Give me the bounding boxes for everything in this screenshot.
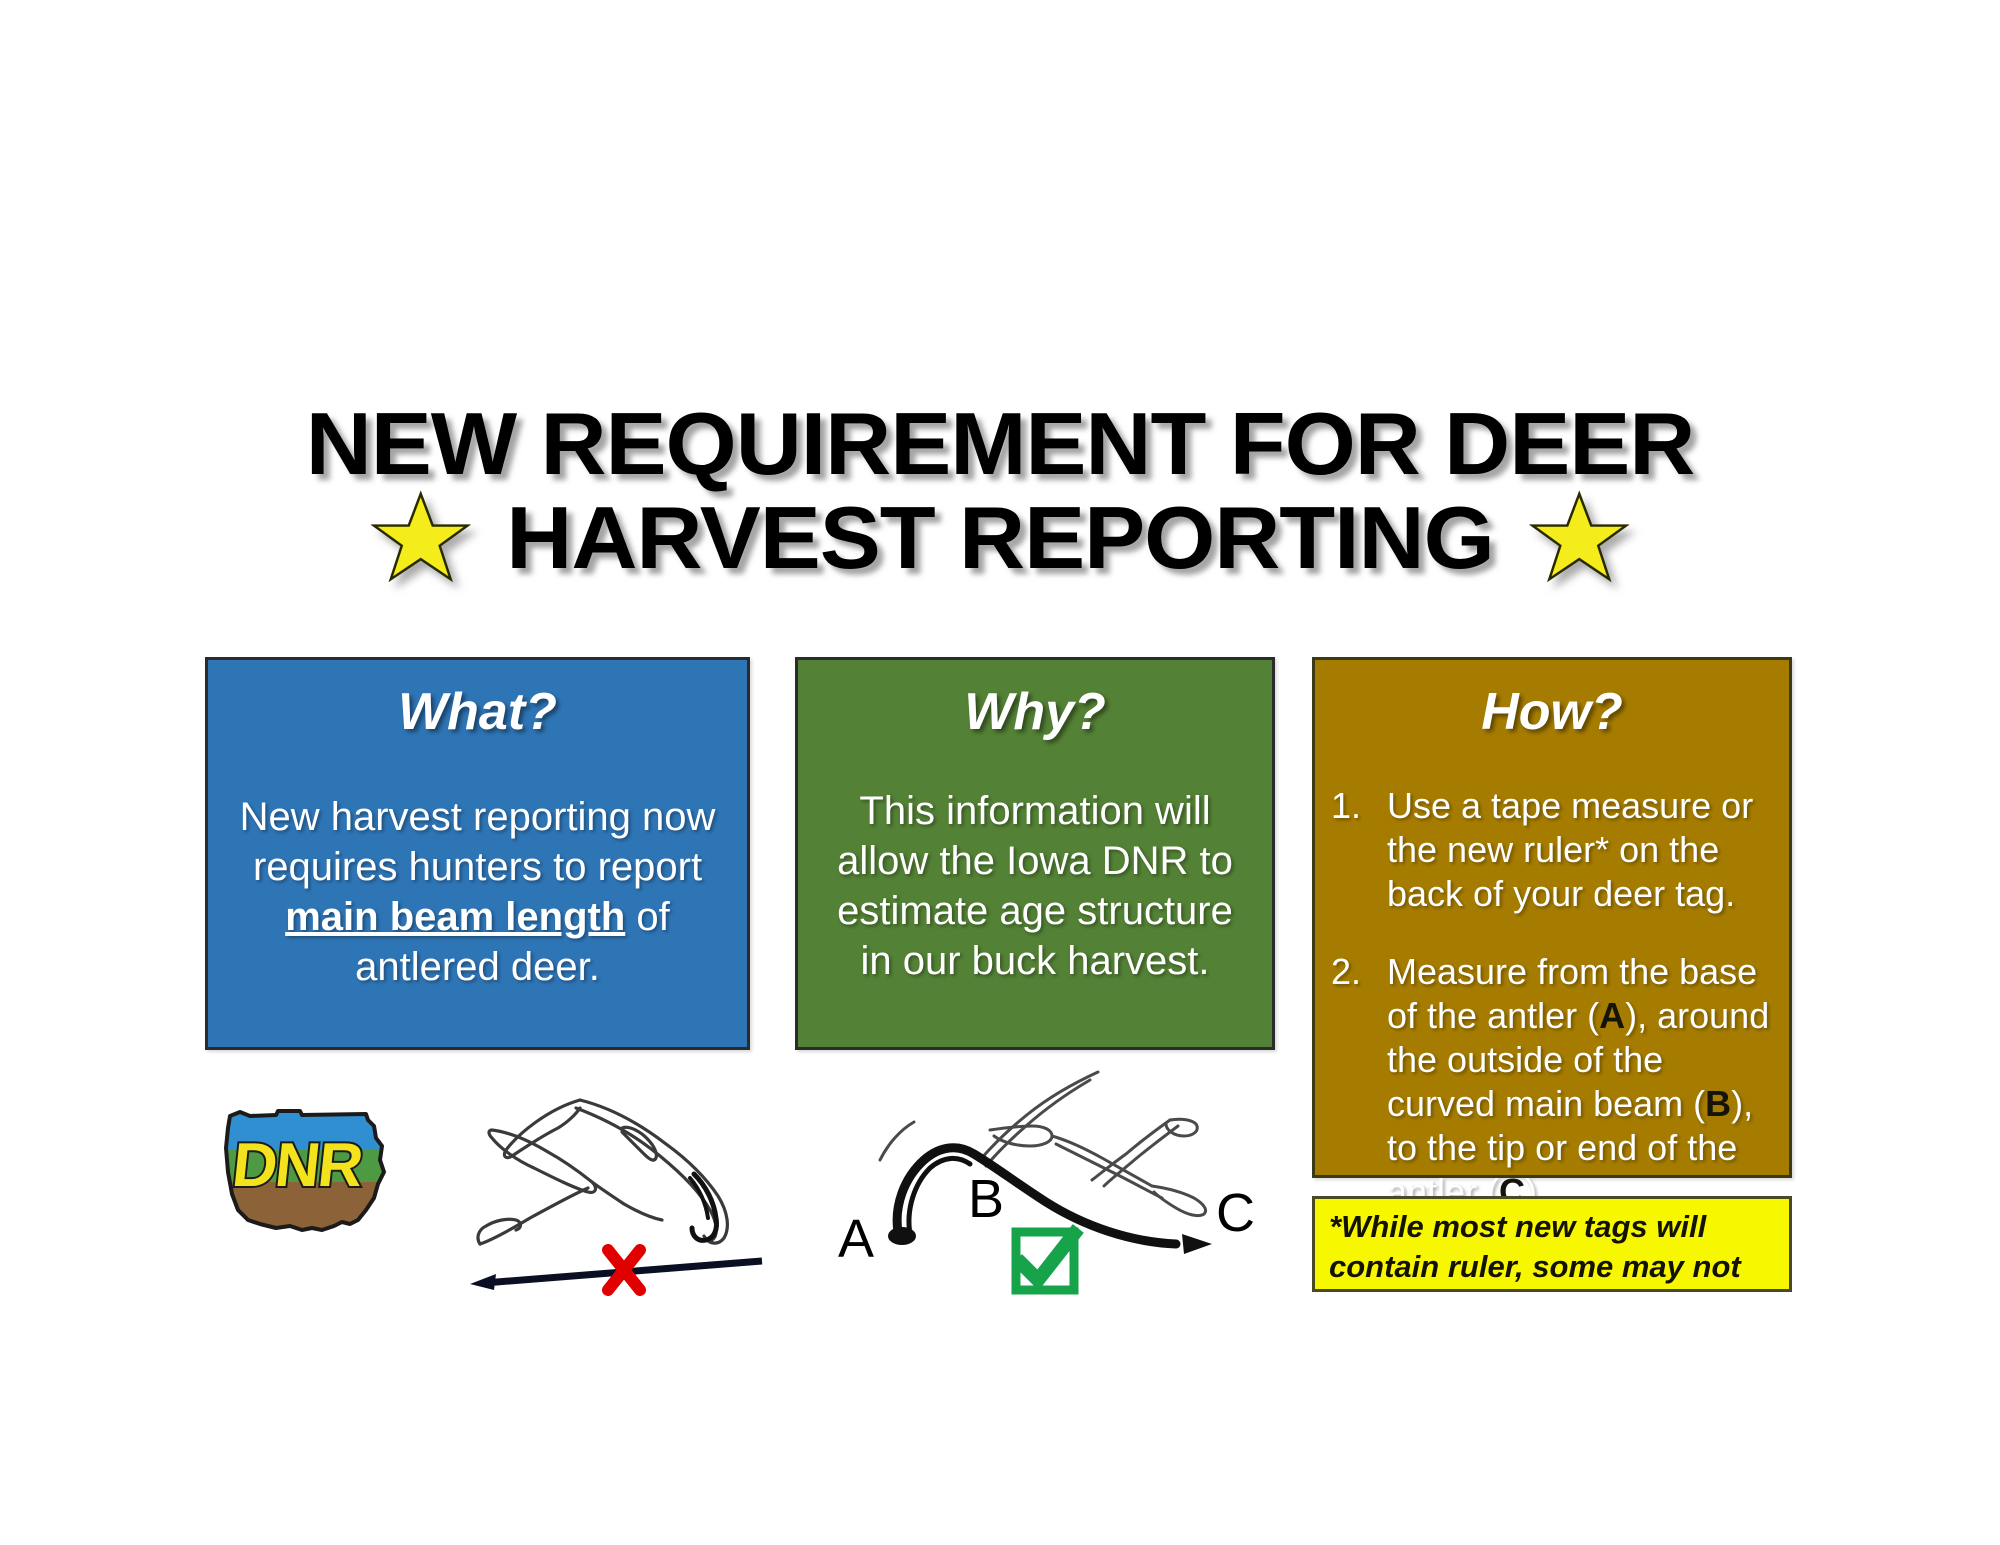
panel-what-body: New harvest reporting now requires hunte… — [208, 792, 747, 992]
panel-why-body: This information will allow the Iowa DNR… — [798, 786, 1272, 986]
panel-what-heading: What? — [208, 684, 747, 740]
panel-what-body-emphasis: main beam length — [285, 895, 625, 939]
antler-label-a: A — [838, 1212, 874, 1266]
star-icon — [1529, 490, 1629, 586]
how-step-2-number: 2. — [1331, 950, 1387, 994]
how-step-1-text: Use a tape measure or the new ruler* on … — [1387, 784, 1771, 916]
title-line-1: NEW REQUIREMENT FOR DEER — [0, 398, 2000, 490]
antler-point-label-a: A — [1599, 995, 1625, 1036]
figure-incorrect-measurement — [462, 1078, 792, 1308]
iowa-dnr-logo: DNR — [216, 1098, 396, 1248]
title-line-2-row: HARVEST REPORTING — [0, 490, 2000, 586]
how-step-2-text: Measure from the base of the antler (A),… — [1387, 950, 1771, 1214]
antler-label-b: B — [968, 1172, 1004, 1226]
title-line-2: HARVEST REPORTING — [506, 492, 1493, 584]
poster-canvas: NEW REQUIREMENT FOR DEER HARVEST REPORTI… — [0, 0, 2000, 1545]
panel-why-heading: Why? — [798, 684, 1272, 740]
antler-point-label-b: B — [1705, 1083, 1731, 1124]
star-icon — [371, 490, 471, 586]
how-steps-list: 1. Use a tape measure or the new ruler* … — [1315, 784, 1789, 1214]
svg-text:DNR: DNR — [229, 1131, 366, 1200]
how-step-2: 2. Measure from the base of the antler (… — [1331, 950, 1771, 1214]
page-title: NEW REQUIREMENT FOR DEER HARVEST REPORTI… — [0, 398, 2000, 586]
antler-label-c: C — [1216, 1186, 1255, 1240]
panel-how: How? 1. Use a tape measure or the new ru… — [1312, 657, 1792, 1178]
panel-why: Why? This information will allow the Iow… — [795, 657, 1275, 1050]
ruler-availability-note: *While most new tags will contain ruler,… — [1312, 1196, 1792, 1292]
note-line-1: *While most new tags will — [1329, 1207, 1789, 1247]
panel-what-body-pre: New harvest reporting now requires hunte… — [240, 795, 716, 889]
panel-what: What? New harvest reporting now requires… — [205, 657, 750, 1050]
note-line-2: contain ruler, some may not — [1329, 1247, 1789, 1287]
panel-how-heading: How? — [1315, 684, 1789, 740]
figure-correct-measurement: A B C — [840, 1064, 1270, 1314]
how-step-1: 1. Use a tape measure or the new ruler* … — [1331, 784, 1771, 916]
how-step-1-number: 1. — [1331, 784, 1387, 828]
